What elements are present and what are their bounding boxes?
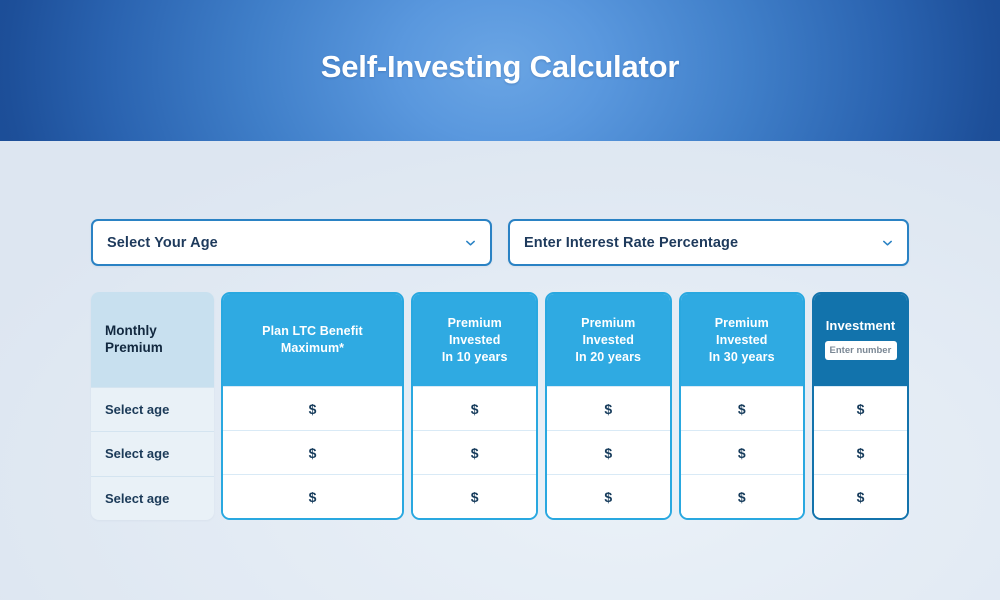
column-header-label: Plan LTC Benefit Maximum* xyxy=(231,323,395,357)
table-cell: $ xyxy=(223,474,403,518)
column-header-premium-invested-20-years: Premium Invested In 20 years xyxy=(547,294,670,386)
table-row[interactable]: Select age xyxy=(91,476,214,520)
controls-row: Select Your Age Enter Interest Rate Perc… xyxy=(91,219,909,266)
table-cell: $ xyxy=(814,474,907,518)
table-cell: $ xyxy=(413,430,536,474)
table-cell: $ xyxy=(681,386,804,430)
table-cell: $ xyxy=(413,474,536,518)
table-cell: $ xyxy=(547,386,670,430)
interest-rate-label: Enter Interest Rate Percentage xyxy=(524,235,738,251)
table-column-monthly-premium: Monthly Premium Select age Select age Se… xyxy=(91,292,214,520)
table-cell: $ xyxy=(547,430,670,474)
investment-amount-input[interactable] xyxy=(825,341,897,360)
column-header-label: Premium Invested xyxy=(421,315,528,349)
column-header-label: Premium Invested xyxy=(689,315,796,349)
table-cell: $ xyxy=(223,430,403,474)
interest-rate-dropdown[interactable]: Enter Interest Rate Percentage xyxy=(508,219,909,266)
page-header-banner: Self-Investing Calculator xyxy=(0,0,1000,141)
table-cell: $ xyxy=(814,386,907,430)
table-cell: $ xyxy=(547,474,670,518)
pricing-table: Monthly Premium Select age Select age Se… xyxy=(91,292,909,520)
select-age-label: Select Your Age xyxy=(107,235,218,251)
column-header-premium-invested-30-years: Premium Invested In 30 years xyxy=(681,294,804,386)
column-header-plan-ltc-benefit-maximum: Plan LTC Benefit Maximum* xyxy=(223,294,403,386)
column-header-label: Investment xyxy=(826,317,896,335)
table-cell: $ xyxy=(413,386,536,430)
chevron-down-icon[interactable] xyxy=(465,237,476,248)
chevron-down-icon[interactable] xyxy=(882,237,893,248)
select-age-dropdown[interactable]: Select Your Age xyxy=(91,219,492,266)
table-column-investment: Investment $ $ $ xyxy=(812,292,909,520)
table-column-premium-invested-10-years: Premium Invested In 10 years $ $ $ xyxy=(411,292,538,520)
column-header-sublabel: In 30 years xyxy=(709,349,775,366)
column-header-sublabel: In 20 years xyxy=(575,349,641,366)
column-header-monthly-premium: Monthly Premium xyxy=(91,292,214,387)
table-column-premium-invested-20-years: Premium Invested In 20 years $ $ $ xyxy=(545,292,672,520)
column-header-investment: Investment xyxy=(814,294,907,386)
table-column-premium-invested-30-years: Premium Invested In 30 years $ $ $ xyxy=(679,292,806,520)
table-column-plan-ltc-benefit-maximum: Plan LTC Benefit Maximum* $ $ $ xyxy=(221,292,405,520)
table-row[interactable]: Select age xyxy=(91,431,214,475)
column-header-label: Premium Invested xyxy=(555,315,662,349)
table-cell: $ xyxy=(223,386,403,430)
column-header-label: Monthly Premium xyxy=(105,323,200,355)
column-header-sublabel: In 10 years xyxy=(442,349,508,366)
column-header-premium-invested-10-years: Premium Invested In 10 years xyxy=(413,294,536,386)
page-title: Self-Investing Calculator xyxy=(0,49,1000,85)
table-cell: $ xyxy=(681,430,804,474)
table-cell: $ xyxy=(681,474,804,518)
table-row[interactable]: Select age xyxy=(91,387,214,431)
row-age-label: Select age xyxy=(105,446,169,461)
row-age-label: Select age xyxy=(105,491,169,506)
table-cell: $ xyxy=(814,430,907,474)
row-age-label: Select age xyxy=(105,402,169,417)
